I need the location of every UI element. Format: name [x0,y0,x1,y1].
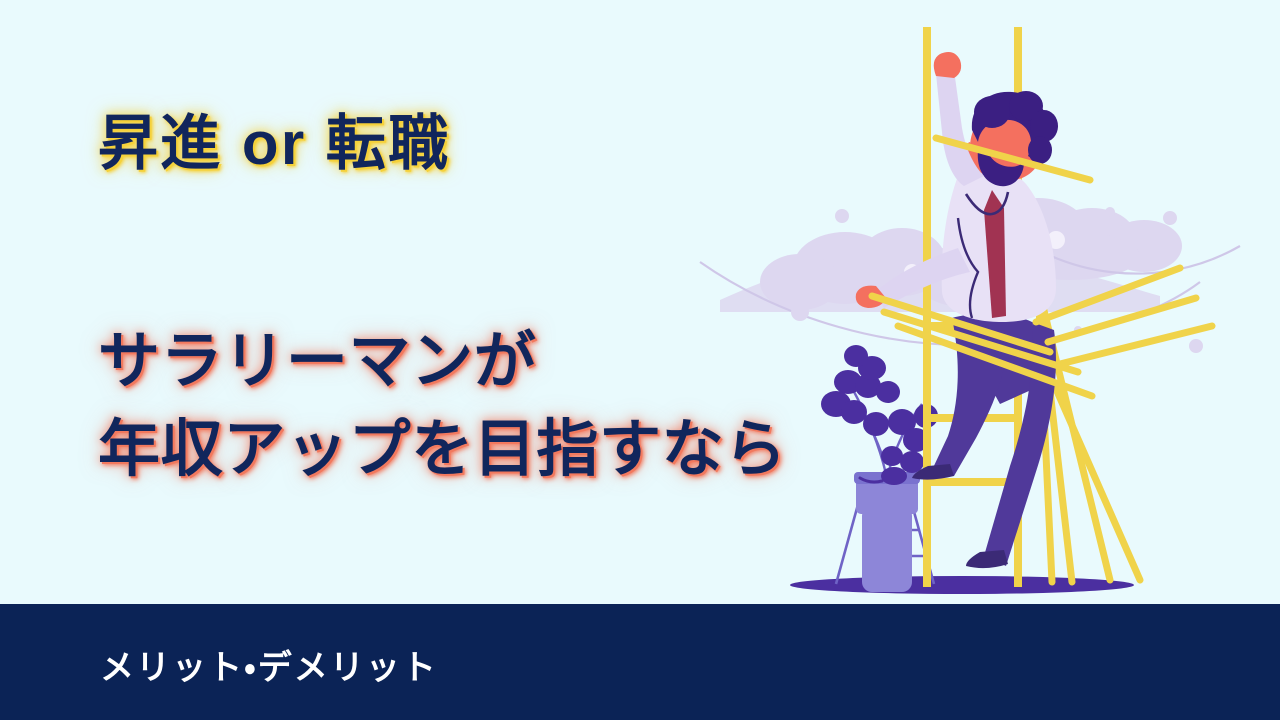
headline-line-2: 年収アップを目指すなら [98,406,787,494]
eyebrow-title: 昇進 or 転職 [98,112,451,177]
plant-pot [854,472,920,592]
person-arm-upper [934,52,984,186]
illustration-businessman-climbing-ladder [640,0,1280,610]
person-legs [912,314,1056,568]
cloud-right-group [988,198,1240,280]
person-torso [942,165,1056,322]
scattered-sticks [1038,286,1140,582]
bottom-bar: メリット・デメリット [0,604,1280,720]
person-arm-lower [856,248,970,308]
bottom-bar-label: メリット・デメリット [100,640,438,689]
held-sticks [872,138,1212,396]
main-headline: サラリーマンが 年収アップを目指すなら [98,318,787,494]
plant-stand [836,490,934,584]
slide-canvas: 昇進 or 転職 サラリーマンが 年収アップを目指すなら メリット・デメリット [0,0,1280,720]
ground-shadow [790,576,1134,594]
plant-foliage [821,345,938,485]
person-head [962,91,1058,186]
ladder [923,27,1022,587]
headline-line-1: サラリーマンが [98,318,787,406]
decorative-dots-group [791,190,1203,365]
